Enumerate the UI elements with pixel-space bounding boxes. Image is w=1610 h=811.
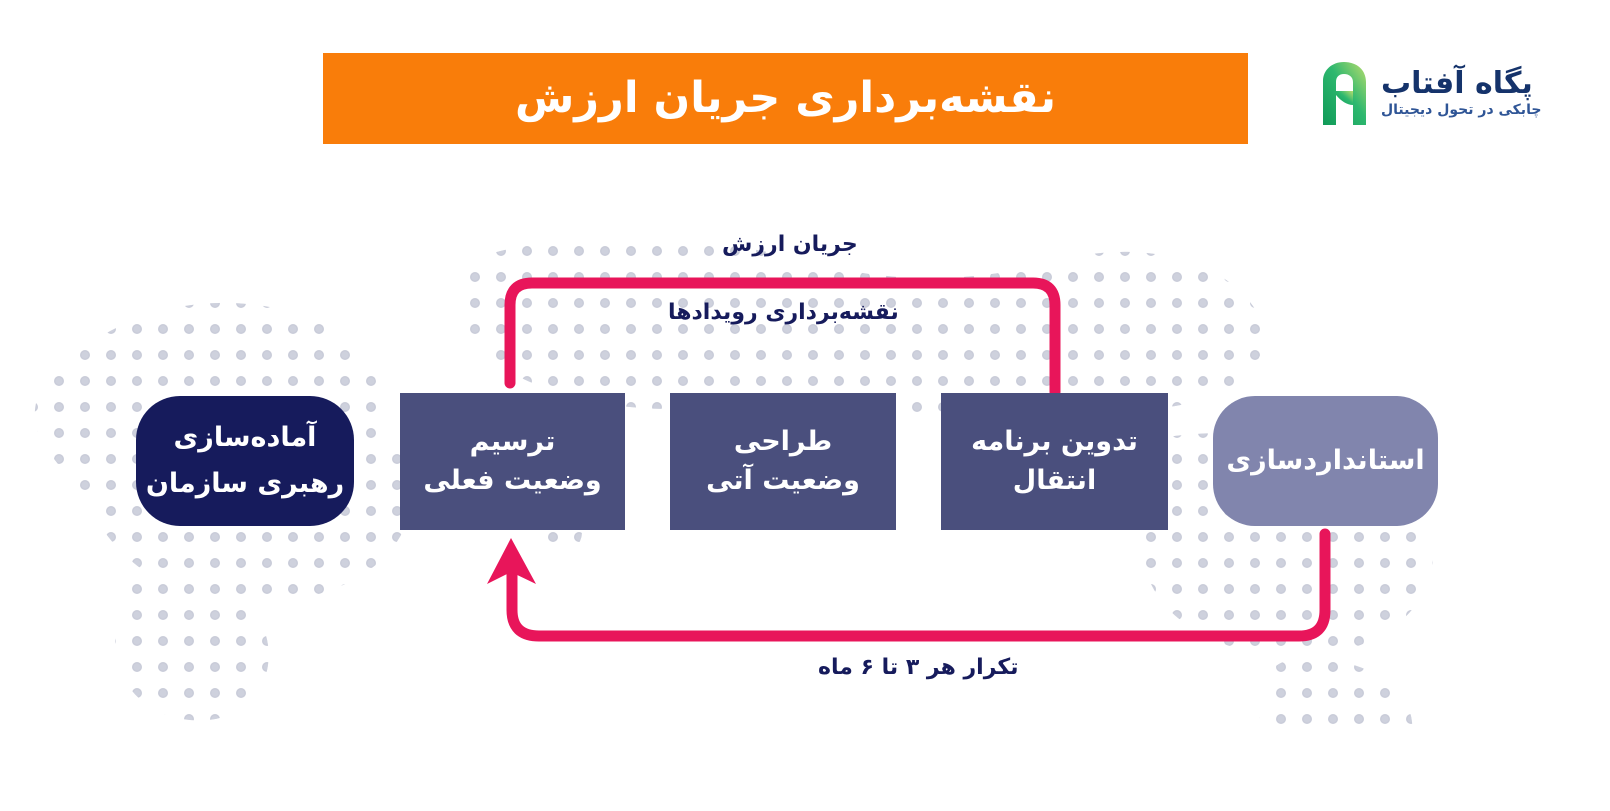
process-step-3[interactable]: طراحی وضعیت آتی — [670, 393, 896, 530]
brand-wordmark: پگاه آفتاب چابکی در تحول دیجیتال — [1381, 68, 1541, 118]
brand-name: پگاه آفتاب — [1381, 68, 1533, 100]
value-stream-flow-label: جریان ارزش — [722, 232, 858, 257]
brand-tagline: چابکی در تحول دیجیتال — [1381, 103, 1541, 118]
page-title-banner: نقشه‌برداری جریان ارزش — [323, 53, 1248, 144]
process-step-4[interactable]: تدوین برنامه انتقال — [941, 393, 1168, 530]
slide-canvas: نقشه‌برداری جریان ارزش پگاه آفتاب چابکی … — [0, 0, 1610, 811]
repeat-cycle-arrowhead — [487, 538, 536, 584]
repeat-cycle-flow-label: تکرار هر ۳ تا ۶ ماه — [818, 655, 1018, 680]
process-step-1[interactable]: آماده‌سازی رهبری سازمان — [136, 396, 354, 526]
page-title: نقشه‌برداری جریان ارزش — [515, 77, 1056, 120]
process-step-5[interactable]: استانداردسازی — [1213, 396, 1438, 526]
process-step-3-label: طراحی وضعیت آتی — [706, 423, 860, 500]
repeat-cycle-arrow-path — [512, 534, 1325, 636]
process-step-1-label: آماده‌سازی رهبری سازمان — [146, 415, 344, 508]
process-step-2-label: ترسیم وضعیت فعلی — [423, 423, 601, 500]
event-mapping-flow-label: نقشه‌برداری رویدادها — [668, 300, 899, 325]
brand-logo[interactable]: پگاه آفتاب چابکی در تحول دیجیتال — [1315, 52, 1593, 134]
process-step-2[interactable]: ترسیم وضعیت فعلی — [400, 393, 625, 530]
process-step-4-label: تدوین برنامه انتقال — [971, 423, 1138, 500]
green-a-logo-icon — [1315, 61, 1371, 125]
process-step-5-label: استانداردسازی — [1226, 442, 1424, 480]
